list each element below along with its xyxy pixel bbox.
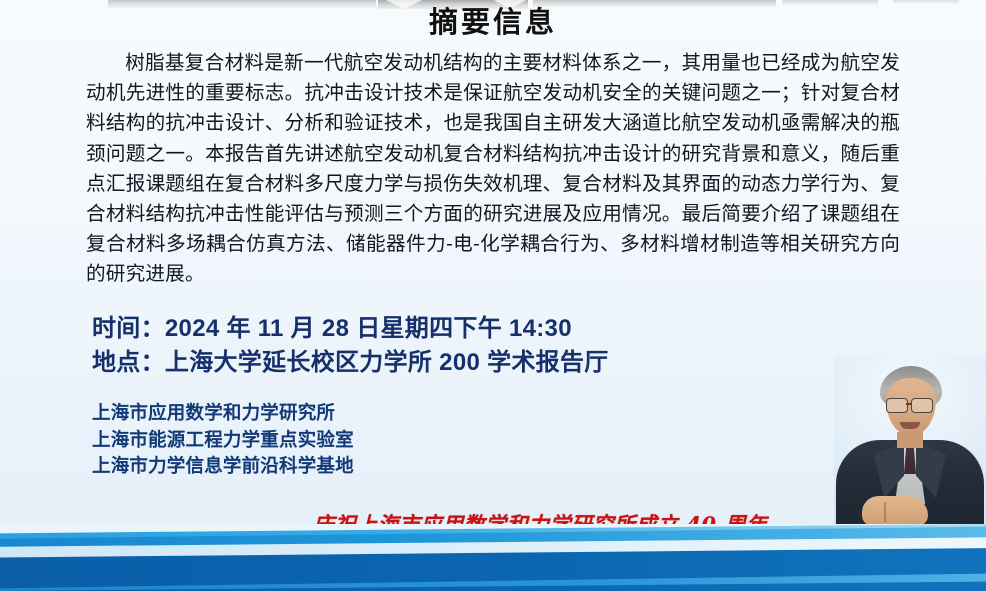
portrait-photo (834, 356, 986, 539)
portrait-glasses-bridge (906, 403, 911, 405)
organizer-list: 上海市应用数学和力学研究所 上海市能源工程力学重点实验室 上海市力学信息学前沿科… (92, 400, 612, 480)
seminar-poster-slide: 摘要信息 树脂基复合材料是新一代航空发动机结构的主要材料体系之一，其用量也已经成… (0, 0, 986, 591)
portrait-hands (862, 496, 928, 526)
event-details: 时间：2024 年 11 月 28 日星期四下午 14:30 地点：上海大学延长… (92, 312, 852, 380)
organizer-item: 上海市力学信息学前沿科学基地 (92, 453, 612, 480)
organizer-item: 上海市应用数学和力学研究所 (92, 400, 612, 427)
page-title: 摘要信息 (0, 2, 986, 42)
event-time: 时间：2024 年 11 月 28 日星期四下午 14:30 (92, 312, 852, 346)
portrait-glasses-right-lens (911, 398, 933, 413)
abstract-paragraph: 树脂基复合材料是新一代航空发动机结构的主要材料体系之一，其用量也已经成为航空发动… (86, 48, 900, 290)
portrait-hand-detail (884, 502, 886, 522)
bottom-decoration-band (0, 524, 986, 591)
event-location: 地点：上海大学延长校区力学所 200 学术报告厅 (92, 346, 852, 380)
portrait-glasses-left-lens (886, 398, 908, 413)
organizer-item: 上海市能源工程力学重点实验室 (92, 427, 612, 454)
